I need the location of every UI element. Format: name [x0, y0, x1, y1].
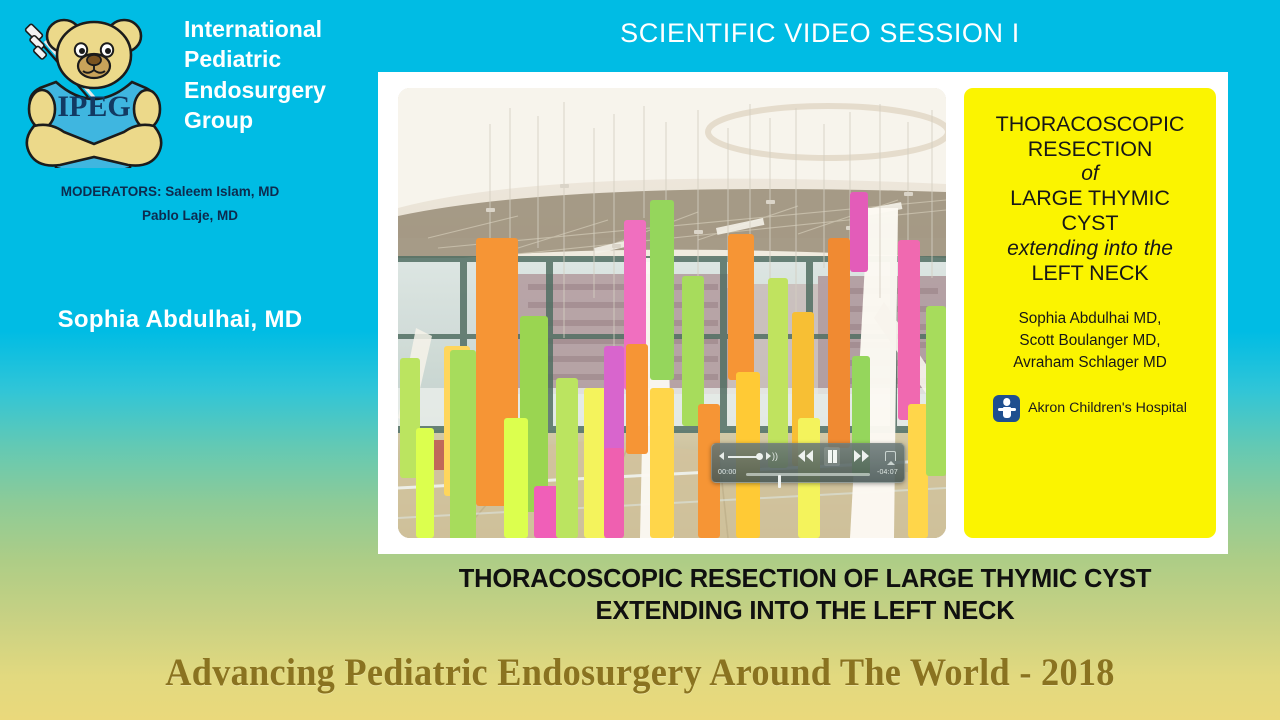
card-line-6: extending into the [974, 237, 1206, 261]
card-line-7: LEFT NECK [974, 261, 1206, 286]
speaker-volume-icon[interactable] [719, 452, 724, 460]
presentation-title-line-2: EXTENDING INTO THE LEFT NECK [330, 595, 1280, 627]
org-line-3: Endosurgery [184, 75, 374, 105]
presentation-title-line-1: THORACOSCOPIC RESECTION OF LARGE THYMIC … [330, 563, 1280, 595]
svg-text:IPEG: IPEG [57, 90, 130, 123]
card-line-1: THORACOSCOPIC [974, 112, 1206, 137]
author-1: Sophia Abdulhai MD, [974, 308, 1206, 330]
volume-wave-icon: )) [772, 453, 778, 460]
slide-frame: )) 00:00 -04:07 THORACOSCOPIC RESECTION [378, 72, 1228, 554]
moderators-line-1: MODERATORS: Saleem Islam, MD [61, 184, 280, 199]
session-title: SCIENTIFIC VIDEO SESSION I [400, 18, 1240, 49]
ipeg-logo-block: IPEG International Pediatric Endosurgery… [8, 6, 368, 166]
remaining-time-label: -04:07 [877, 469, 898, 476]
presentation-title: THORACOSCOPIC RESECTION OF LARGE THYMIC … [330, 563, 1280, 627]
volume-knob[interactable] [756, 453, 763, 460]
pause-icon[interactable] [824, 447, 840, 466]
scrubber-handle-icon[interactable] [778, 475, 781, 488]
card-authors: Sophia Abdulhai MD, Scott Boulanger MD, … [974, 308, 1206, 375]
card-line-2: RESECTION [974, 137, 1206, 162]
org-line-2: Pediatric [184, 44, 374, 74]
institution-block: Akron Children's Hospital [974, 395, 1206, 422]
card-line-3: of [974, 162, 1206, 186]
rewind-icon[interactable] [798, 450, 814, 462]
card-line-4: LARGE THYMIC [974, 186, 1206, 211]
controls-buttons-row: )) [712, 446, 904, 465]
current-time-label: 00:00 [718, 469, 737, 476]
volume-slider[interactable]: )) [719, 452, 775, 461]
author-3: Avraham Schlager MD [974, 352, 1206, 374]
akron-childrens-logo-icon [993, 395, 1020, 422]
moderators-line-2: Pablo Laje, MD [0, 204, 340, 228]
org-line-4: Group [184, 105, 374, 135]
video-controls-bar[interactable]: )) 00:00 -04:07 [711, 443, 905, 483]
footer-tagline: Advancing Pediatric Endosurgery Around T… [45, 650, 1235, 695]
presenter-name: Sophia Abdulhai, MD [0, 306, 360, 334]
institution-name: Akron Children's Hospital [1028, 400, 1187, 416]
author-2: Scott Boulanger MD, [974, 330, 1206, 352]
title-card: THORACOSCOPIC RESECTION of LARGE THYMIC … [964, 88, 1216, 538]
org-line-1: International [184, 14, 374, 44]
scrubber-track[interactable] [746, 473, 870, 476]
moderators-block: MODERATORS: Saleem Islam, MD Pablo Laje,… [0, 180, 340, 227]
fast-forward-icon[interactable] [854, 450, 870, 462]
organization-name: International Pediatric Endosurgery Grou… [184, 14, 374, 135]
teddy-bear-surgeon-icon: IPEG [12, 8, 180, 168]
airplay-icon[interactable] [885, 451, 896, 461]
card-line-5: CYST [974, 211, 1206, 236]
controls-scrubber-row[interactable]: 00:00 -04:07 [712, 466, 904, 482]
speaker-max-icon[interactable] [766, 452, 771, 460]
